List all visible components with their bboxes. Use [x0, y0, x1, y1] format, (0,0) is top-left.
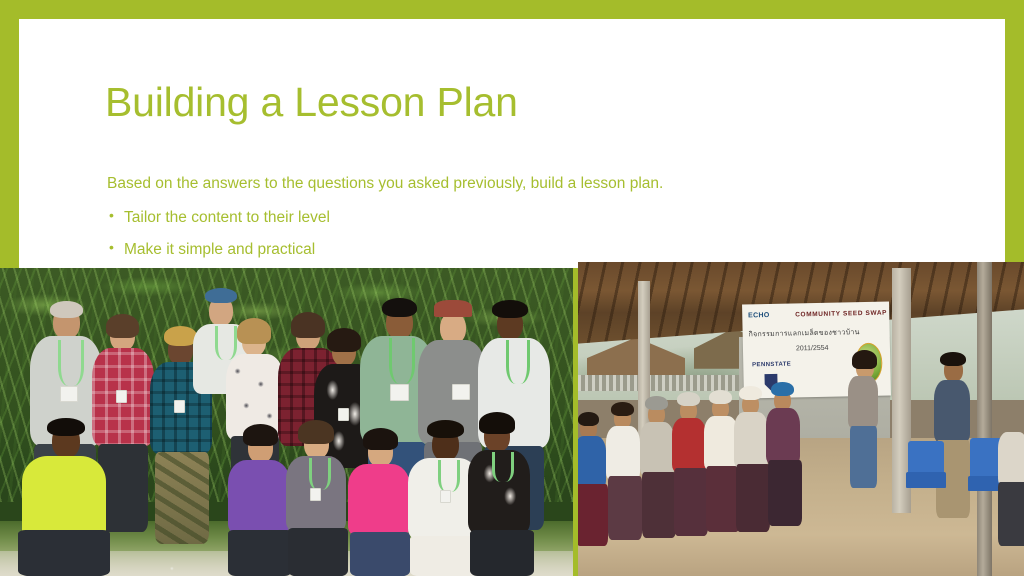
list-item: • Make it simple and practical	[107, 240, 927, 260]
list-item: • Tailor the content to their level	[107, 208, 927, 228]
photo-strip: ECHO COMMUNITY SEED SWAP กิจกรรมการแลกเม…	[0, 262, 1024, 576]
slide-canvas: Building a Lesson Plan Based on the answ…	[0, 0, 1024, 576]
banner-thai-text: กิจกรรมการแลกเมล็ดของชาวบ้าน	[748, 327, 859, 340]
banner-sponsor: PENNSTATE	[752, 362, 791, 369]
page-title: Building a Lesson Plan	[105, 81, 518, 124]
seed-swap-photo-right: ECHO COMMUNITY SEED SWAP กิจกรรมการแลกเม…	[578, 262, 1024, 576]
banner-year: 2011/2554	[796, 345, 829, 353]
bullet-list: • Tailor the content to their level • Ma…	[107, 208, 927, 260]
group-photo-left	[0, 268, 573, 576]
bullet-icon: •	[109, 239, 114, 257]
slide-content-panel: Building a Lesson Plan Based on the answ…	[19, 19, 1005, 268]
list-item-label: Tailor the content to their level	[124, 209, 330, 226]
list-item-label: Make it simple and practical	[124, 241, 315, 258]
banner-headline: COMMUNITY SEED SWAP	[795, 310, 887, 319]
bullet-icon: •	[109, 207, 114, 225]
plastic-chair-seat	[906, 472, 946, 488]
lead-paragraph: Based on the answers to the questions yo…	[107, 174, 927, 194]
banner-logo-text: ECHO	[748, 311, 770, 318]
shelter-post	[977, 262, 992, 576]
slide-body: Based on the answers to the questions yo…	[107, 174, 927, 271]
